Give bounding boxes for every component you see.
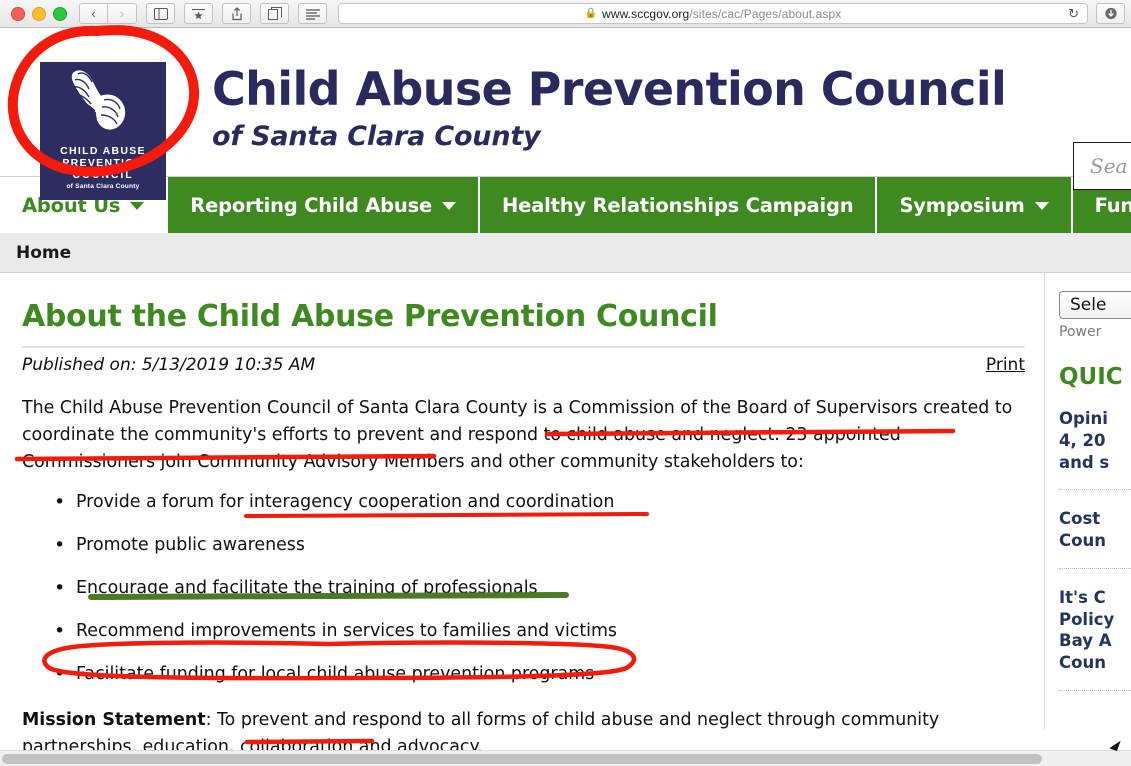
sidebar-icon[interactable] [146, 3, 175, 24]
right-sidebar: Sele Power QUIC Opini 4, 20 and s Cost C… [1045, 273, 1131, 729]
nav-item-symposium[interactable]: Symposium [877, 177, 1072, 233]
close-window-button[interactable] [11, 7, 25, 21]
navigation-buttons: ‹ › [79, 3, 137, 24]
list-item: Provide a forum for interagency cooperat… [76, 492, 1022, 513]
web-page: CHILD ABUSE PREVENTION COUNCIL of Santa … [0, 28, 1131, 766]
nav-label: Reporting Child Abuse [190, 194, 432, 217]
content-columns: About the Child Abuse Prevention Council… [0, 273, 1131, 729]
bookmarks-icon[interactable] [184, 3, 213, 24]
sidebar-divider [1059, 690, 1131, 691]
chevron-down-icon [442, 202, 456, 210]
downloads-icon[interactable] [1096, 3, 1125, 24]
quick-links-heading: QUIC [1059, 364, 1131, 390]
zoom-window-button[interactable] [53, 7, 67, 21]
chevron-down-icon [130, 202, 144, 210]
breadcrumb: Home [0, 233, 1131, 273]
address-bar[interactable]: 🔒 www.sccgov.org/sites/cac/Pages/about.a… [338, 3, 1088, 24]
logo-line-4: of Santa Clara County [40, 183, 166, 190]
logo-line-1: CHILD ABUSE [40, 146, 166, 158]
share-icon[interactable] [222, 3, 251, 24]
select-language-label: Sele [1070, 295, 1106, 315]
sidebar-link-3[interactable]: It's C Policy Bay A Coun [1059, 587, 1131, 674]
article-meta: Published on: 5/13/2019 10:35 AM Print [22, 355, 1025, 375]
search-placeholder: Sea [1090, 154, 1127, 178]
window-controls [11, 7, 67, 21]
goals-list: Provide a forum for interagency cooperat… [20, 492, 1022, 684]
scrollbar-thumb[interactable] [2, 754, 1042, 764]
main-navigation: About Us Reporting Child Abuse Healthy R… [0, 176, 1131, 233]
nav-item-healthy-relationships-campaign[interactable]: Healthy Relationships Campaign [480, 177, 877, 233]
nav-label: Symposium [899, 194, 1024, 217]
reload-icon[interactable]: ↻ [1068, 6, 1079, 22]
clasped-hands-icon [40, 62, 166, 150]
sidebar-link-1[interactable]: Opini 4, 20 and s [1059, 408, 1131, 473]
list-item: Encourage and facilitate the training of… [76, 578, 1022, 599]
nav-label: Funding [1095, 194, 1131, 217]
url-text: www.sccgov.org/sites/cac/Pages/about.asp… [602, 7, 841, 21]
nav-label: Healthy Relationships Campaign [502, 194, 853, 217]
breadcrumb-item-home[interactable]: Home [16, 243, 71, 263]
logo-text: CHILD ABUSE PREVENTION COUNCIL of Santa … [40, 146, 166, 191]
sidebar-divider [1059, 568, 1131, 569]
minimize-window-button[interactable] [32, 7, 46, 21]
site-logo[interactable]: CHILD ABUSE PREVENTION COUNCIL of Santa … [40, 62, 166, 200]
intro-paragraph: The Child Abuse Prevention Council of Sa… [22, 395, 1022, 476]
print-link[interactable]: Print [986, 355, 1025, 375]
powered-by-label: Power [1059, 324, 1131, 340]
site-title-block: Child Abuse Prevention Council of Santa … [212, 66, 1006, 152]
list-item: Recommend improvements in services to fa… [76, 621, 1022, 642]
page-title: About the Child Abuse Prevention Council [22, 299, 1022, 334]
site-header: CHILD ABUSE PREVENTION COUNCIL of Santa … [0, 28, 1131, 176]
search-input[interactable]: Sea [1073, 142, 1131, 190]
logo-line-2: PREVENTION [40, 158, 166, 170]
forward-button[interactable]: › [108, 3, 137, 24]
main-content: About the Child Abuse Prevention Council… [0, 273, 1045, 729]
title-divider [22, 346, 1025, 348]
mission-label: Mission Statement [22, 710, 206, 730]
browser-toolbar: ‹ › [0, 0, 1131, 28]
sidebar-link-2[interactable]: Cost Coun [1059, 508, 1131, 552]
logo-line-3: COUNCIL [40, 170, 166, 182]
published-date: Published on: 5/13/2019 10:35 AM [22, 355, 315, 375]
show-tabs-icon[interactable] [260, 3, 289, 24]
horizontal-scrollbar[interactable] [0, 750, 1131, 766]
site-title: Child Abuse Prevention Council [212, 66, 1006, 112]
reader-view-icon[interactable] [298, 3, 327, 24]
nav-item-reporting-child-abuse[interactable]: Reporting Child Abuse [168, 177, 480, 233]
back-button[interactable]: ‹ [79, 3, 108, 24]
list-item: Facilitate funding for local child abuse… [76, 664, 1022, 685]
browser-window: ‹ › [0, 0, 1131, 766]
select-language-dropdown[interactable]: Sele [1059, 291, 1131, 319]
sidebar-divider [1059, 489, 1131, 490]
chevron-down-icon [1035, 202, 1049, 210]
lock-icon: 🔒 [585, 8, 597, 19]
site-subtitle: of Santa Clara County [212, 121, 1006, 152]
list-item: Promote public awareness [76, 535, 1022, 556]
